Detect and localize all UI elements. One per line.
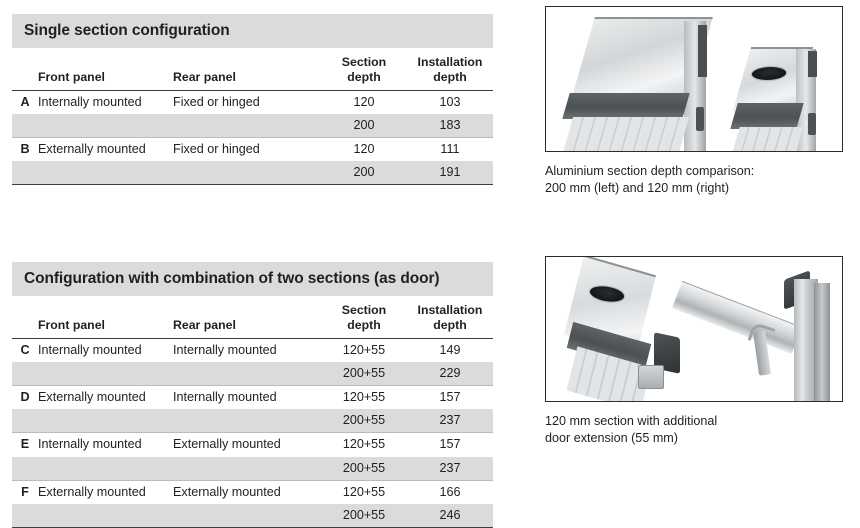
column-header-installation-depth-line2: depth (433, 318, 466, 332)
caption-line-2: door extension (55 mm) (545, 430, 845, 447)
table-title-two-sections: Configuration with combination of two se… (12, 262, 493, 296)
cell-section-depth: 200+55 (321, 362, 407, 386)
cell-key: F (12, 480, 38, 504)
cell-front-panel (38, 362, 173, 386)
column-header-installation-depth: Installation depth (407, 296, 493, 339)
cell-rear-panel (173, 457, 321, 481)
cell-rear-panel: Externally mounted (173, 480, 321, 504)
cell-key: A (12, 91, 38, 115)
table-single-section: Front panel Rear panel Section depth Ins… (12, 48, 493, 185)
table-header-row: Front panel Rear panel Section depth Ins… (12, 296, 493, 339)
table-header-row: Front panel Rear panel Section depth Ins… (12, 48, 493, 91)
table-row: 200+55 237 (12, 457, 493, 481)
table-row: B Externally mounted Fixed or hinged 120… (12, 138, 493, 162)
cell-section-depth: 120+55 (321, 339, 407, 363)
cell-front-panel (38, 409, 173, 433)
cell-key: D (12, 386, 38, 410)
column-header-installation-depth-line1: Installation (418, 303, 483, 317)
column-header-rear-panel: Rear panel (173, 48, 321, 91)
table-row: 200+55 246 (12, 504, 493, 528)
photo1-large-section-clip (696, 107, 704, 131)
cell-section-depth: 120+55 (321, 433, 407, 457)
figure-caption-section-depth-comparison: Aluminium section depth comparison: 200 … (545, 163, 845, 197)
figure-caption-door-extension: 120 mm section with additional door exte… (545, 413, 845, 447)
table-block-single-section: Single section configuration Front panel… (12, 14, 493, 185)
table-row: C Internally mounted Internally mounted … (12, 339, 493, 363)
column-header-installation-depth: Installation depth (407, 48, 493, 91)
cell-rear-panel (173, 114, 321, 138)
column-header-section-depth-line1: Section (342, 303, 386, 317)
table-row: 200 191 (12, 161, 493, 185)
photo1-small-section-clip (808, 113, 816, 135)
column-header-installation-depth-line2: depth (433, 70, 466, 84)
cell-installation-depth: 237 (407, 409, 493, 433)
cell-rear-panel (173, 161, 321, 185)
cell-section-depth: 200 (321, 114, 407, 138)
column-header-front-panel: Front panel (38, 296, 173, 339)
cell-installation-depth: 246 (407, 504, 493, 528)
cell-key: E (12, 433, 38, 457)
cell-installation-depth: 237 (407, 457, 493, 481)
table-body: C Internally mounted Internally mounted … (12, 339, 493, 528)
cell-front-panel: Internally mounted (38, 91, 173, 115)
caption-line-2: 200 mm (left) and 120 mm (right) (545, 180, 845, 197)
cell-installation-depth: 103 (407, 91, 493, 115)
photo-section-depth-comparison (545, 6, 843, 152)
cell-installation-depth: 157 (407, 433, 493, 457)
table-row: 200+55 237 (12, 409, 493, 433)
cell-key (12, 504, 38, 528)
cell-section-depth: 120+55 (321, 480, 407, 504)
cell-key (12, 362, 38, 386)
cell-rear-panel: Internally mounted (173, 386, 321, 410)
column-header-key (12, 296, 38, 339)
table-header: Front panel Rear panel Section depth Ins… (12, 48, 493, 91)
cell-rear-panel (173, 504, 321, 528)
cell-key (12, 457, 38, 481)
cell-front-panel: Externally mounted (38, 386, 173, 410)
cell-front-panel: Internally mounted (38, 433, 173, 457)
photo1-large-section-dark-edge (698, 25, 707, 77)
table-row: D Externally mounted Internally mounted … (12, 386, 493, 410)
photo1-large-section-dark-band (562, 93, 689, 119)
cell-section-depth: 200 (321, 161, 407, 185)
cell-front-panel (38, 161, 173, 185)
cell-key (12, 409, 38, 433)
cell-installation-depth: 229 (407, 362, 493, 386)
figure-section-depth-comparison: Aluminium section depth comparison: 200 … (545, 6, 845, 197)
column-header-section-depth-line2: depth (347, 318, 380, 332)
column-header-front-panel: Front panel (38, 48, 173, 91)
cell-installation-depth: 166 (407, 480, 493, 504)
cell-key: B (12, 138, 38, 162)
cell-front-panel (38, 504, 173, 528)
table-title-single-section: Single section configuration (12, 14, 493, 48)
table-two-sections: Front panel Rear panel Section depth Ins… (12, 296, 493, 528)
caption-line-1: 120 mm section with additional (545, 413, 845, 430)
column-header-section-depth: Section depth (321, 48, 407, 91)
cell-rear-panel: Externally mounted (173, 433, 321, 457)
cell-front-panel: Externally mounted (38, 480, 173, 504)
cell-front-panel (38, 457, 173, 481)
figure-door-extension: 120 mm section with additional door exte… (545, 256, 845, 447)
cell-installation-depth: 111 (407, 138, 493, 162)
photo1-large-section-ribbed-body (563, 117, 689, 152)
cell-section-depth: 120+55 (321, 386, 407, 410)
photo2-hinge-plate (638, 365, 664, 389)
cell-front-panel (38, 114, 173, 138)
column-header-section-depth-line2: depth (347, 70, 380, 84)
cell-rear-panel: Internally mounted (173, 339, 321, 363)
cell-rear-panel (173, 409, 321, 433)
cell-section-depth: 200+55 (321, 457, 407, 481)
cell-installation-depth: 191 (407, 161, 493, 185)
photo-door-extension (545, 256, 843, 402)
cell-front-panel: Externally mounted (38, 138, 173, 162)
figures-column: Aluminium section depth comparison: 200 … (540, 0, 860, 518)
photo1-small-section-dark-band (730, 103, 803, 129)
cell-section-depth: 200+55 (321, 409, 407, 433)
table-row: F Externally mounted Externally mounted … (12, 480, 493, 504)
photo1-small-section-ribbed-body (732, 127, 803, 152)
cell-rear-panel (173, 362, 321, 386)
column-header-rear-panel: Rear panel (173, 296, 321, 339)
cell-rear-panel: Fixed or hinged (173, 91, 321, 115)
cell-installation-depth: 157 (407, 386, 493, 410)
column-header-installation-depth-line1: Installation (418, 55, 483, 69)
column-header-key (12, 48, 38, 91)
table-row: A Internally mounted Fixed or hinged 120… (12, 91, 493, 115)
cell-rear-panel: Fixed or hinged (173, 138, 321, 162)
table-block-two-sections: Configuration with combination of two se… (12, 262, 493, 528)
table-header: Front panel Rear panel Section depth Ins… (12, 296, 493, 339)
cell-key (12, 161, 38, 185)
table-row: 200+55 229 (12, 362, 493, 386)
cell-installation-depth: 149 (407, 339, 493, 363)
cell-section-depth: 120 (321, 91, 407, 115)
cell-section-depth: 120 (321, 138, 407, 162)
caption-line-1: Aluminium section depth comparison: (545, 163, 845, 180)
photo2-frame-post-groove (814, 283, 830, 402)
cell-front-panel: Internally mounted (38, 339, 173, 363)
cell-key: C (12, 339, 38, 363)
table-body: A Internally mounted Fixed or hinged 120… (12, 91, 493, 185)
tables-column: Single section configuration Front panel… (0, 0, 520, 518)
cell-installation-depth: 183 (407, 114, 493, 138)
cell-key (12, 114, 38, 138)
photo2-door-extension-arm (672, 281, 802, 354)
table-row: E Internally mounted Externally mounted … (12, 433, 493, 457)
page: Single section configuration Front panel… (0, 0, 860, 518)
column-header-section-depth-line1: Section (342, 55, 386, 69)
column-header-section-depth: Section depth (321, 296, 407, 339)
cell-section-depth: 200+55 (321, 504, 407, 528)
table-row: 200 183 (12, 114, 493, 138)
photo1-small-section-dark-edge (808, 51, 817, 77)
